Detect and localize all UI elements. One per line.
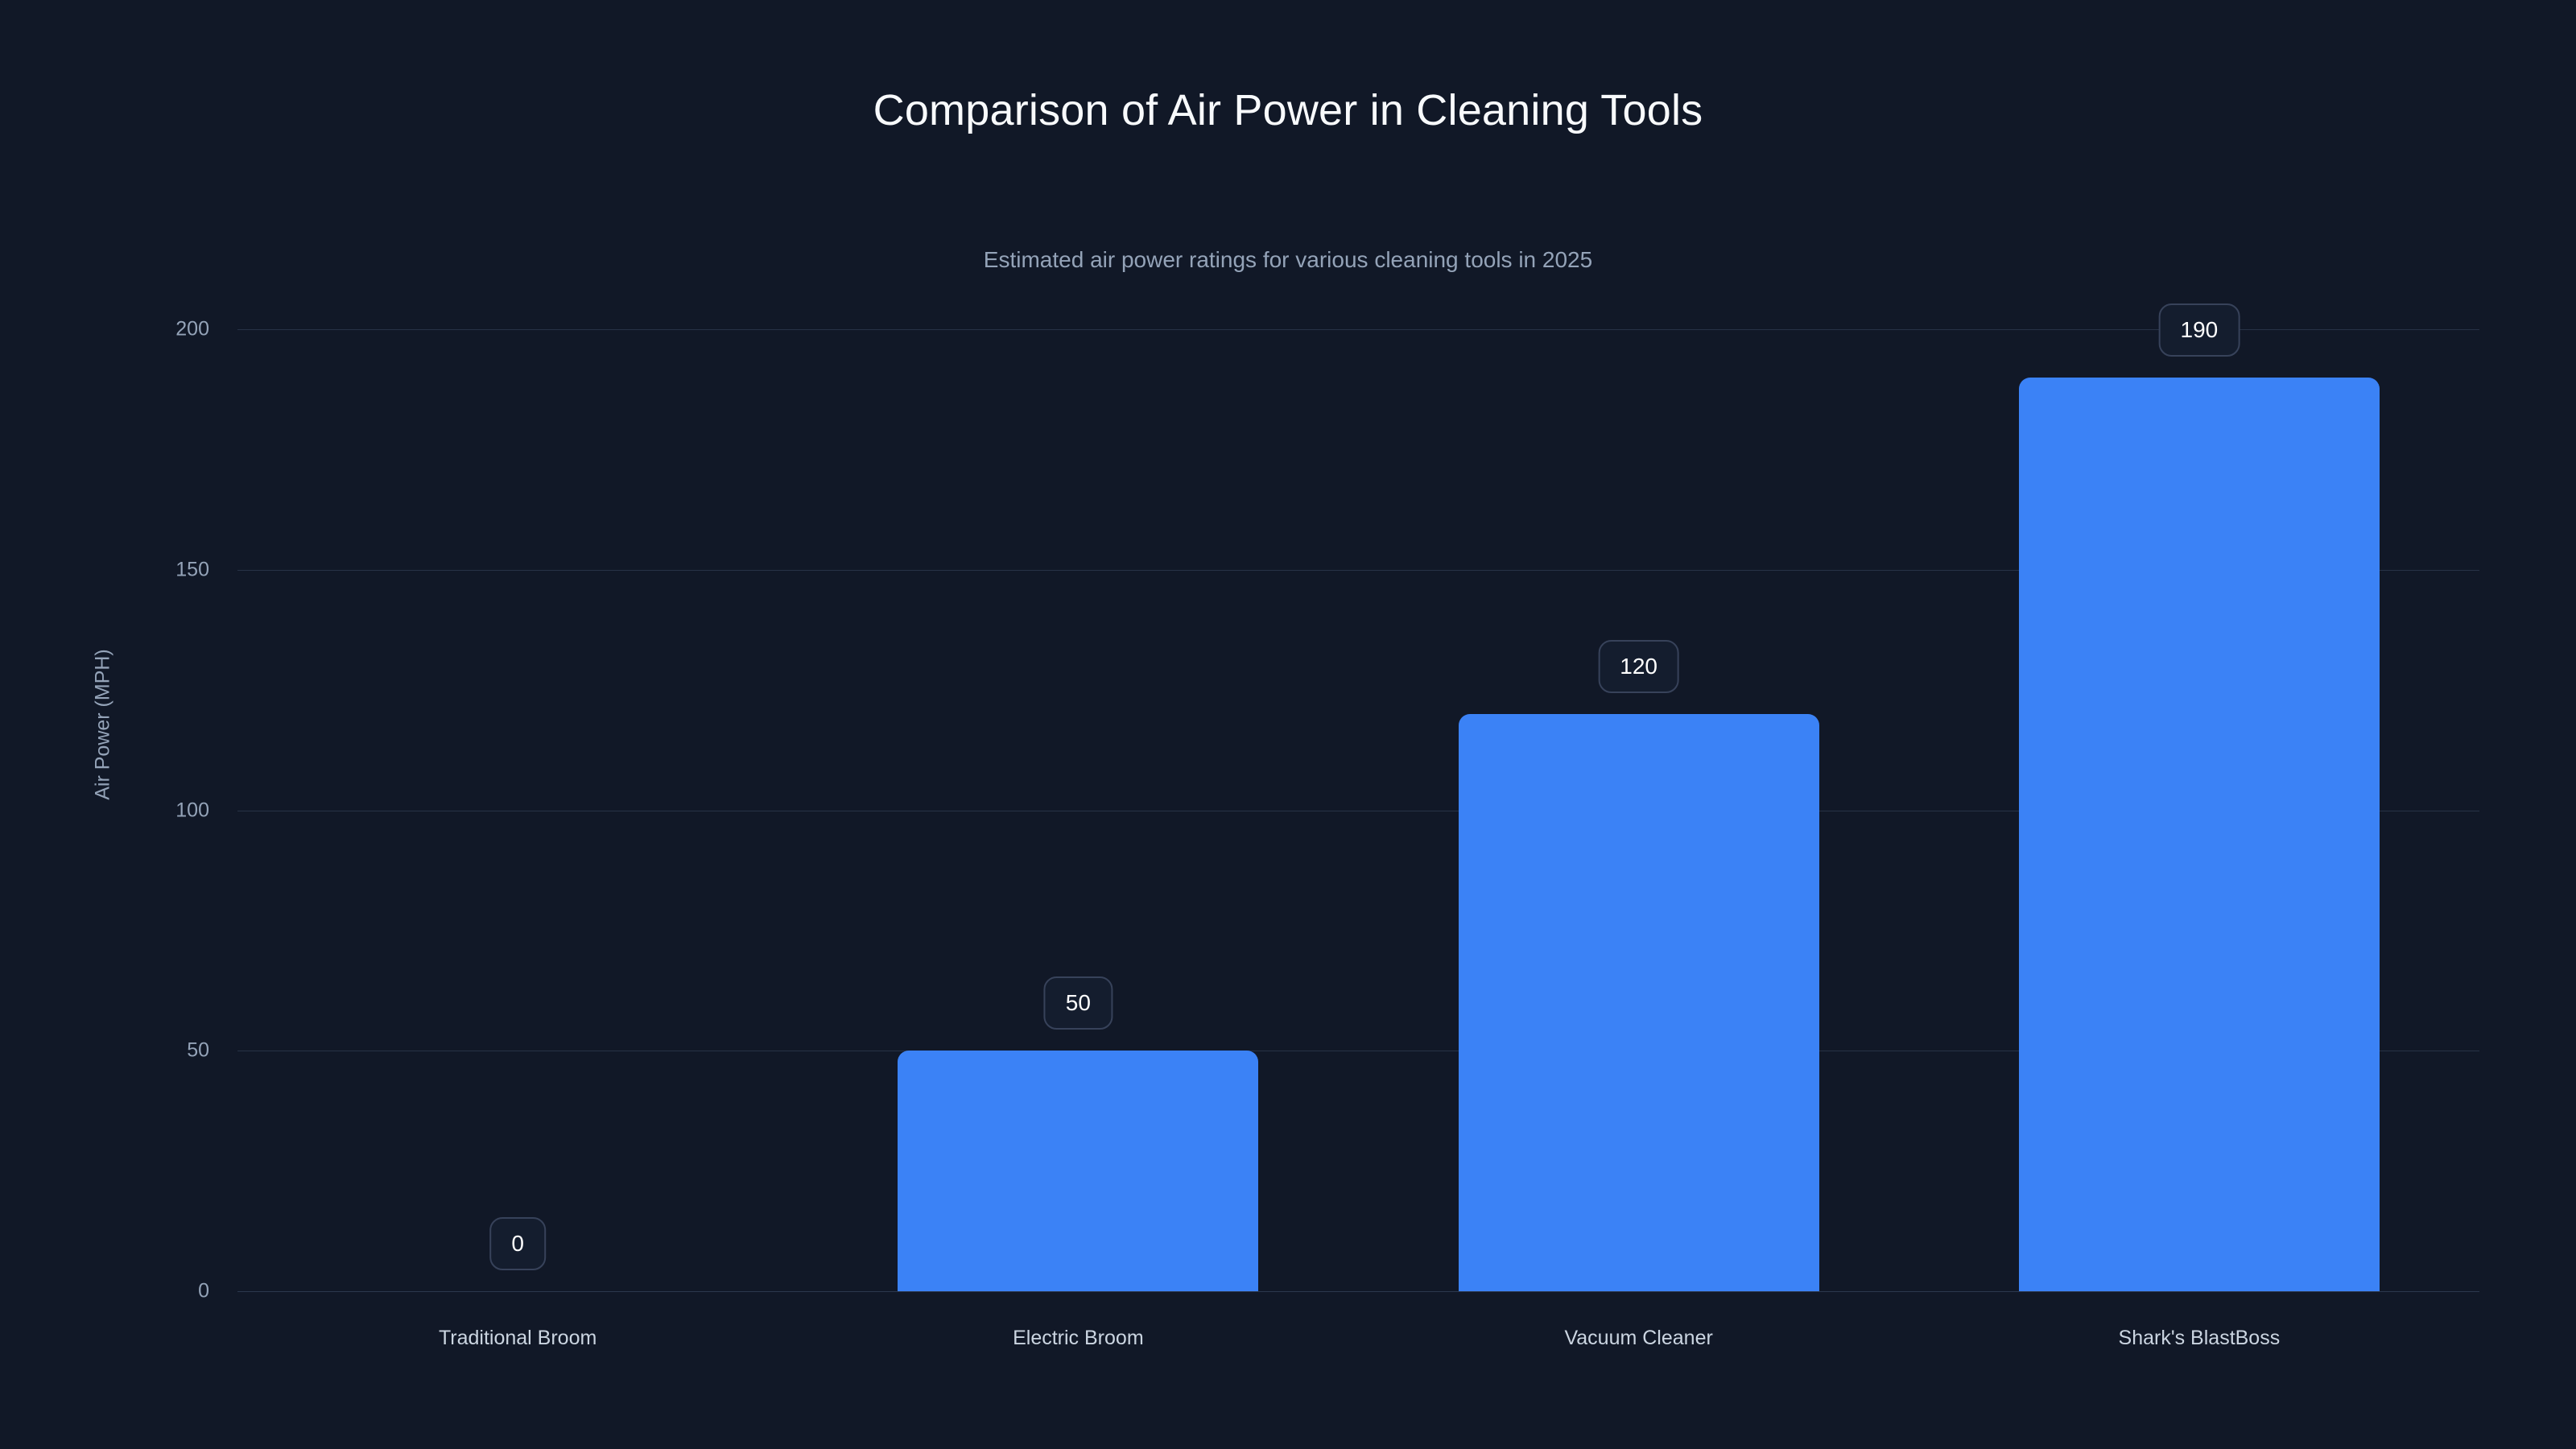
plot-area — [237, 329, 2479, 1291]
x-axis-category-label: Traditional Broom — [439, 1327, 597, 1350]
bar-chart: Comparison of Air Power in Cleaning Tool… — [0, 0, 2576, 1449]
y-axis-tick-label: 100 — [113, 799, 209, 822]
bar[interactable] — [1459, 714, 1819, 1291]
bar-value-label: 190 — [2159, 303, 2240, 357]
x-axis-category-label: Electric Broom — [1013, 1327, 1144, 1350]
chart-subtitle: Estimated air power ratings for various … — [0, 248, 2576, 273]
y-axis-tick-label: 150 — [113, 558, 209, 581]
y-axis-tick-label: 0 — [113, 1280, 209, 1303]
bar[interactable] — [898, 1051, 1258, 1291]
x-axis-category-label: Vacuum Cleaner — [1564, 1327, 1712, 1350]
bar-value-label: 0 — [489, 1217, 546, 1270]
gridline — [237, 1291, 2479, 1292]
y-axis-tick-label: 50 — [113, 1039, 209, 1063]
y-axis-title: Air Power (MPH) — [92, 649, 115, 800]
bar[interactable] — [2019, 378, 2380, 1291]
bar-value-label: 120 — [1598, 640, 1679, 693]
chart-title: Comparison of Air Power in Cleaning Tool… — [0, 87, 2576, 134]
bars-group — [237, 329, 2479, 1291]
x-axis-category-label: Shark's BlastBoss — [2119, 1327, 2281, 1350]
bar-value-label: 50 — [1044, 976, 1113, 1030]
y-axis-tick-label: 200 — [113, 318, 209, 341]
